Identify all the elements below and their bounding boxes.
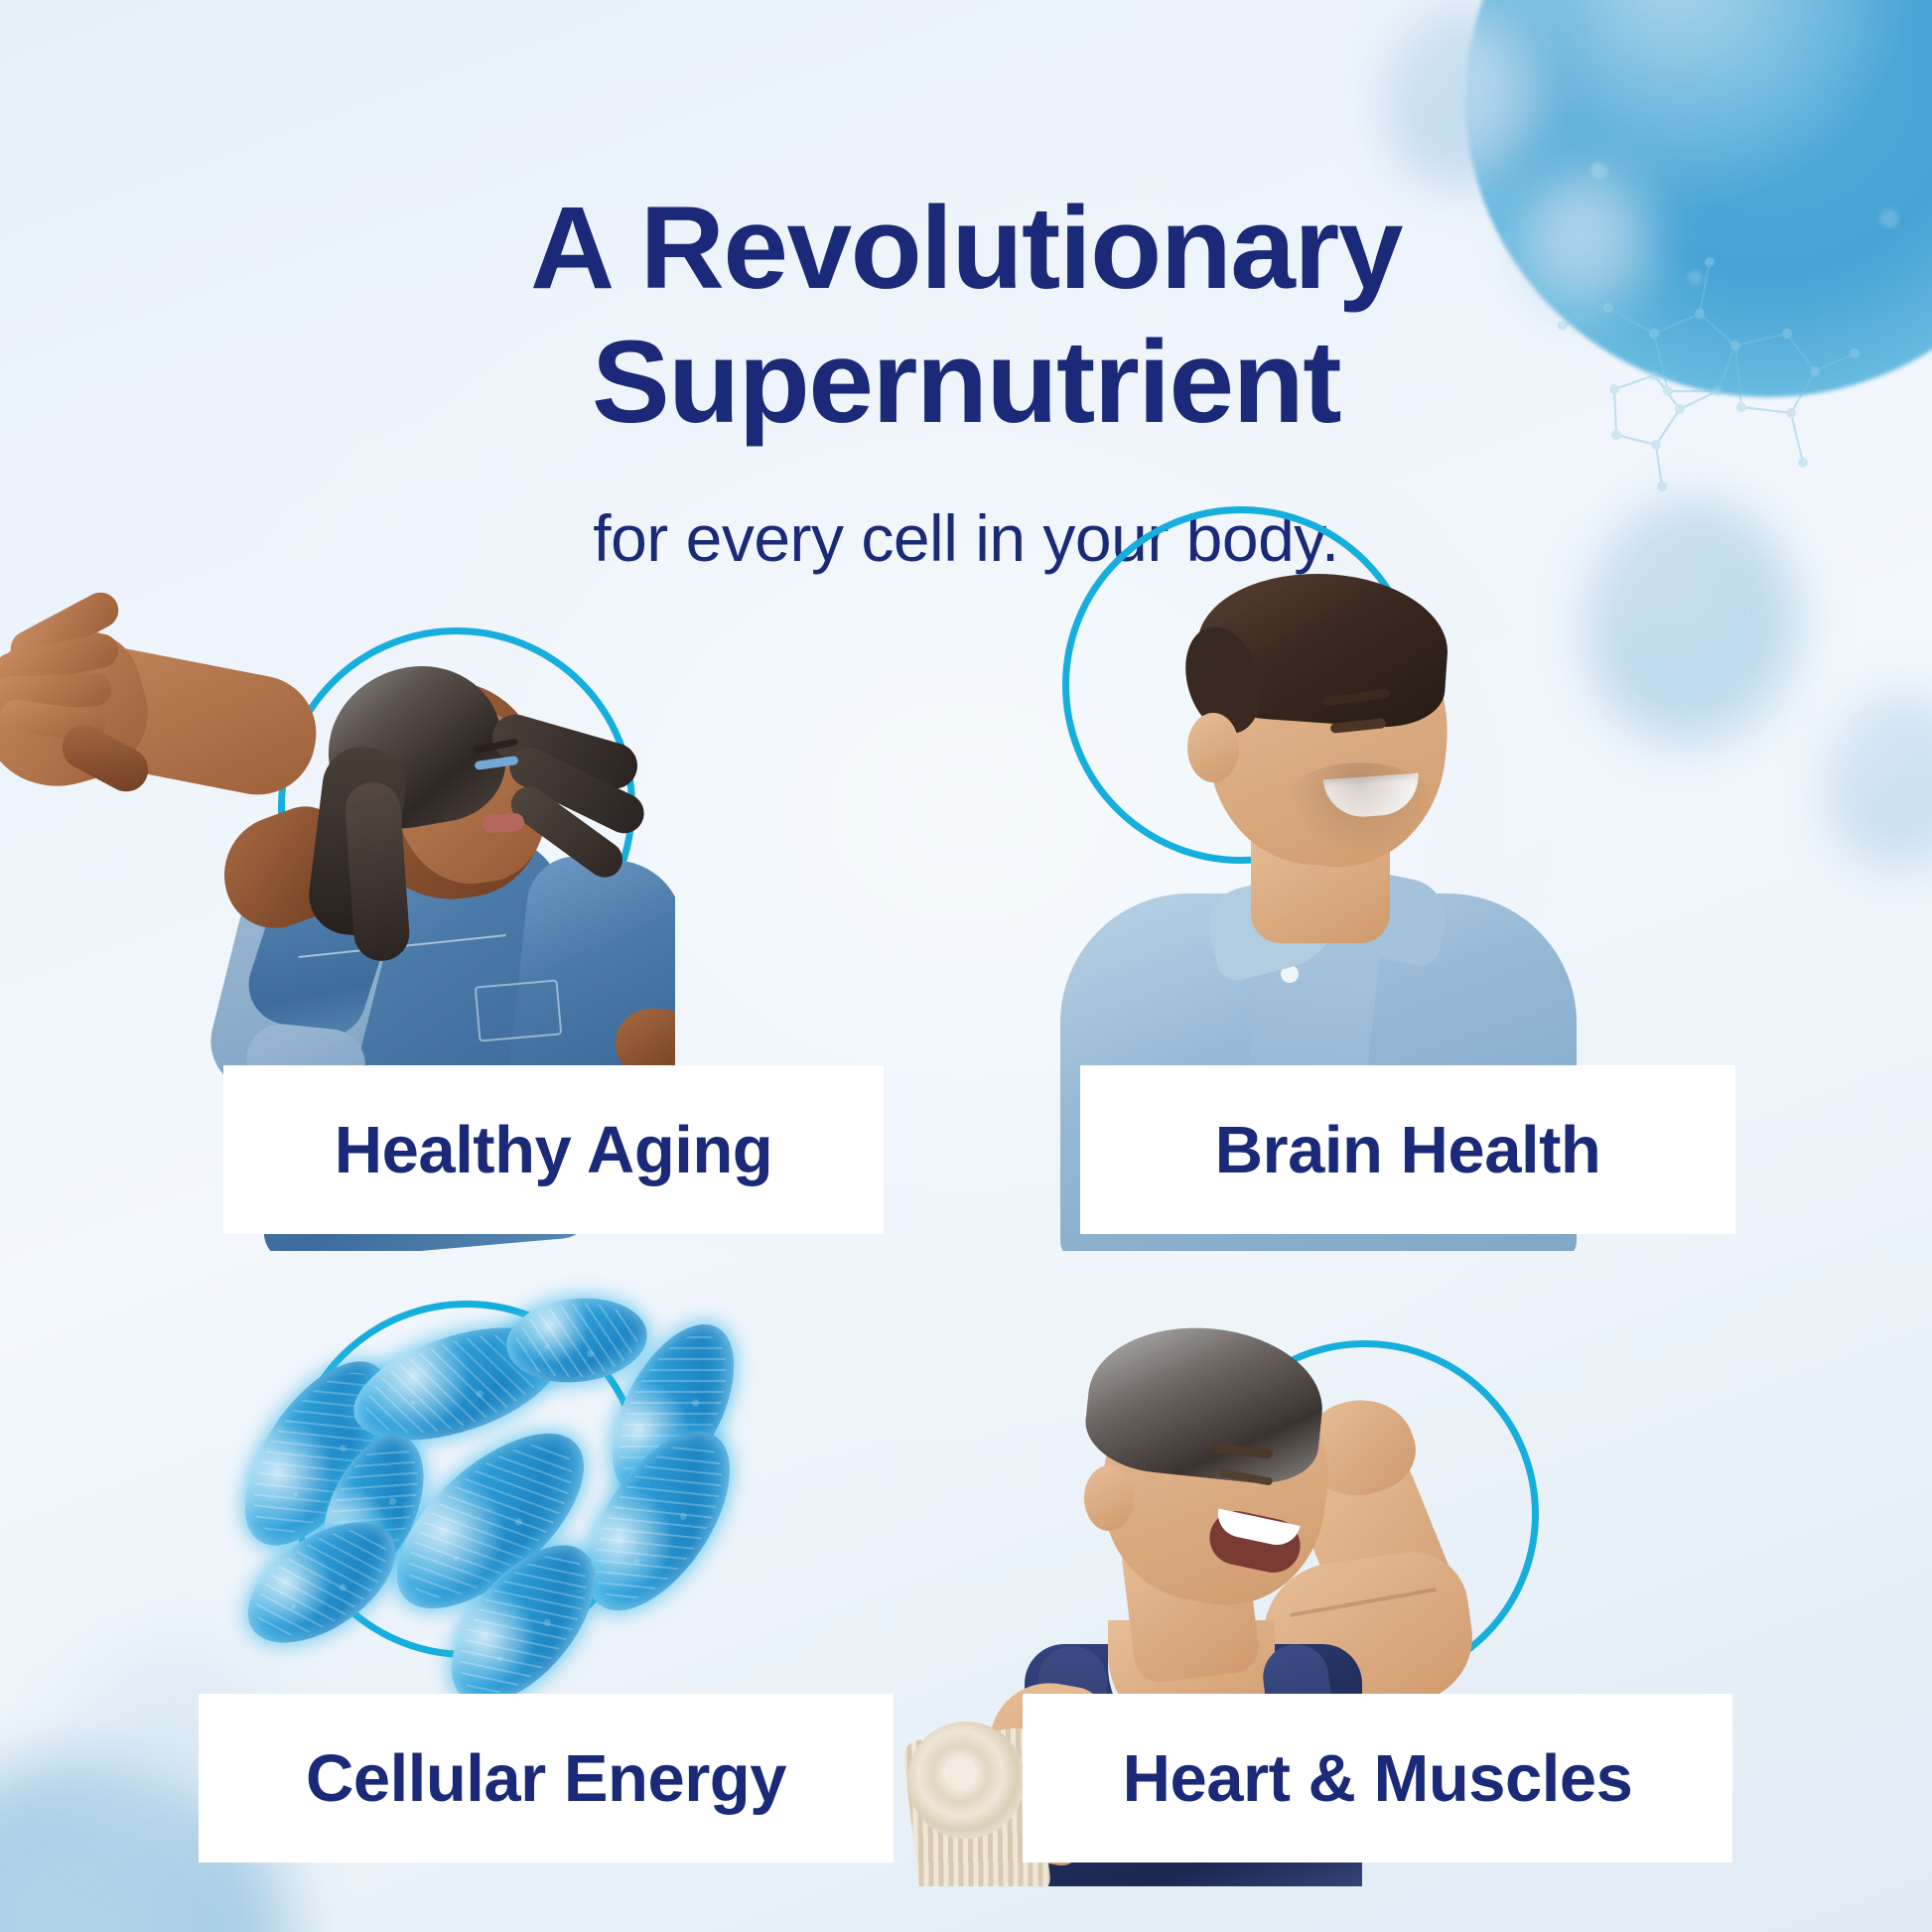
cell-blob-soft-icon	[1827, 695, 1932, 874]
ear-shape	[1084, 1465, 1134, 1531]
benefit-label-healthy-aging: Healthy Aging	[223, 1065, 884, 1234]
promo-graphic: A Revolutionary Supernutrient for every …	[0, 0, 1932, 1932]
page-title: A Revolutionary Supernutrient	[0, 182, 1932, 449]
benefit-label-text: Brain Health	[1215, 1117, 1601, 1183]
benefit-card-healthy-aging[interactable]: Healthy Aging	[0, 516, 894, 1251]
benefit-label-heart-muscles: Heart & Muscles	[1023, 1694, 1732, 1863]
stubble-shadow	[1281, 762, 1440, 858]
benefit-label-text: Cellular Energy	[306, 1745, 786, 1812]
benefit-label-brain-health: Brain Health	[1080, 1065, 1735, 1234]
lips	[482, 813, 524, 834]
headline-line-1: A Revolutionary	[530, 183, 1402, 314]
headline-line-2: Supernutrient	[0, 316, 1932, 450]
benefit-label-text: Heart & Muscles	[1123, 1745, 1633, 1812]
ear-shape	[1187, 713, 1239, 782]
benefit-card-brain-health[interactable]: Brain Health	[874, 496, 1767, 1251]
cell-blob-soft-icon	[1388, 10, 1537, 194]
denim-pocket	[475, 979, 563, 1041]
benefit-label-cellular-energy: Cellular Energy	[199, 1694, 894, 1863]
benefit-card-cellular-energy[interactable]: Cellular Energy	[179, 1271, 913, 1886]
benefit-card-heart-muscles[interactable]: Heart & Muscles	[834, 1251, 1767, 1886]
benefit-label-text: Healthy Aging	[335, 1117, 772, 1183]
